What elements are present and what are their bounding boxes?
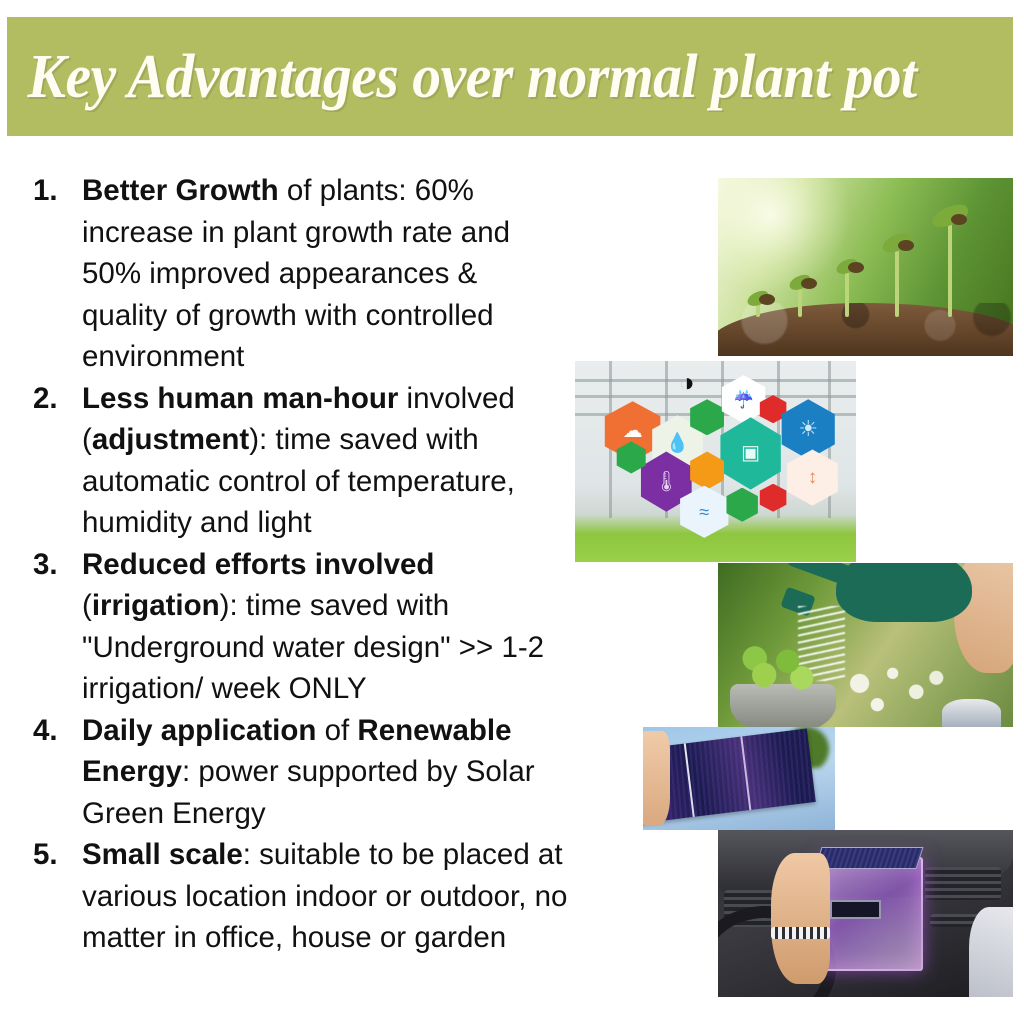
list-item-lead: Small scale xyxy=(82,838,243,871)
list-item-number: 3. xyxy=(28,544,82,586)
hand-holding-prototype xyxy=(771,853,830,983)
lcd-display xyxy=(830,900,881,919)
sprout-stage-2 xyxy=(798,285,802,317)
sprout-stage-4 xyxy=(895,247,899,317)
red-hex-accent xyxy=(758,484,789,512)
list-item: 4. Daily application of Renewable Energy… xyxy=(28,710,568,835)
list-item-number: 2. xyxy=(28,378,82,420)
title-band: Key Advantages over normal plant pot xyxy=(7,17,1013,136)
green-hex-accent xyxy=(724,488,761,522)
busbar xyxy=(684,744,695,818)
potted-plant-foliage xyxy=(736,642,830,698)
car-air-vent xyxy=(925,867,1002,900)
list-item-lead-2: adjustment xyxy=(92,423,249,456)
list-item-body: Better Growth of plants: 60% increase in… xyxy=(82,170,568,378)
list-item-lead: Reduced efforts involved xyxy=(82,548,434,581)
white-flowers xyxy=(836,661,954,717)
cctv-camera-icon: ▣ xyxy=(716,417,786,489)
list-item-number: 4. xyxy=(28,710,82,752)
page-title: Key Advantages over normal plant pot xyxy=(7,46,917,108)
list-item-lead: Daily application xyxy=(82,714,316,747)
solar-panel-cell-photo xyxy=(643,727,835,830)
greenhouse-frame-beam xyxy=(575,395,856,398)
wrist-bracelet xyxy=(771,927,830,939)
list-item-number: 5. xyxy=(28,834,82,876)
list-item-lead-2: irrigation xyxy=(92,589,220,622)
list-item-mid: ( xyxy=(82,589,92,622)
sprout-stage-3 xyxy=(845,269,849,317)
list-item-body: Reduced efforts involved (irrigation): t… xyxy=(82,544,568,710)
seedling-growth-stages-photo xyxy=(718,178,1013,356)
person-shirt xyxy=(969,907,1013,997)
list-item-body: Daily application of Renewable Energy: p… xyxy=(82,710,568,835)
pressure-gauge-icon: ↕ xyxy=(783,449,842,505)
list-item-lead: Better Growth xyxy=(82,174,279,207)
sprout-stage-5 xyxy=(948,221,952,317)
list-item-number: 1. xyxy=(28,170,82,212)
list-item-mid: of xyxy=(316,714,357,747)
person-shoe xyxy=(942,699,1001,727)
list-item: 3. Reduced efforts involved (irrigation)… xyxy=(28,544,568,710)
hand-holding-panel xyxy=(643,731,670,826)
slide-root: Key Advantages over normal plant pot 1. … xyxy=(0,0,1024,1024)
advantages-list: 1. Better Growth of plants: 60% increase… xyxy=(28,170,568,959)
list-item: 5. Small scale: suitable to be placed at… xyxy=(28,834,568,959)
wifi-icon: ◑ xyxy=(679,369,695,395)
mini-solar-panel-on-box xyxy=(815,847,924,869)
sunlight-glow xyxy=(718,178,851,294)
busbar xyxy=(740,737,751,811)
iot-greenhouse-icons-photo: ☁ 💧 ☔ ☀ ▣ 🌡 ≈ ↕ ◑ xyxy=(575,361,856,562)
list-item-lead: Less human man-hour xyxy=(82,382,398,415)
sprout-stage-1 xyxy=(756,301,760,317)
watering-can-plant-photo xyxy=(718,563,1013,727)
list-item-body: Less human man-hour involved (adjustment… xyxy=(82,378,568,544)
soil-mound xyxy=(718,303,1013,356)
list-item-body: Small scale: suitable to be placed at va… xyxy=(82,834,568,959)
prototype-device-in-car-photo xyxy=(718,830,1013,997)
list-item: 1. Better Growth of plants: 60% increase… xyxy=(28,170,568,378)
list-item: 2. Less human man-hour involved (adjustm… xyxy=(28,378,568,544)
greenhouse-frame-beam xyxy=(575,379,856,382)
